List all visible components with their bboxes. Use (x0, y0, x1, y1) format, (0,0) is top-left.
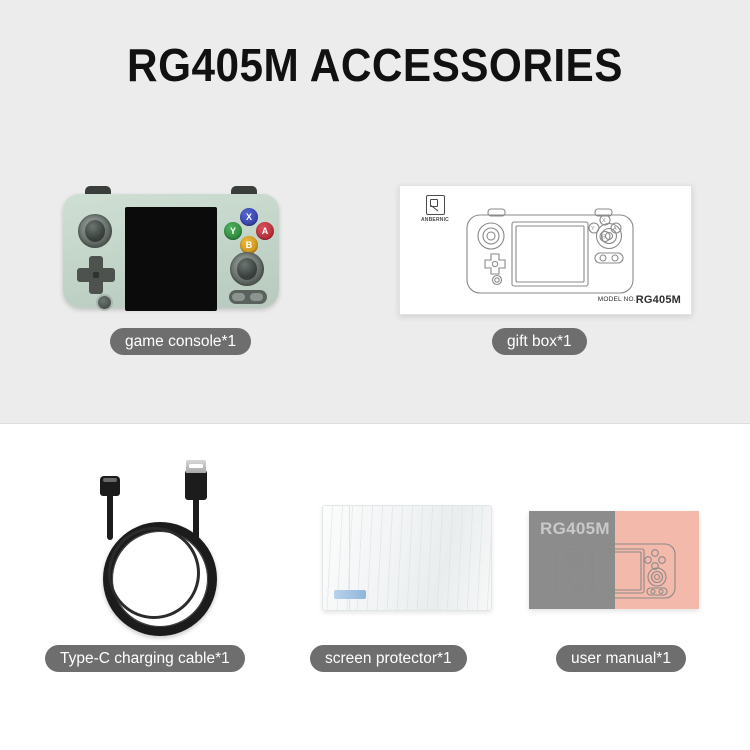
right-analog-stick-icon (230, 252, 264, 286)
label-gift-box: gift box*1 (492, 328, 587, 355)
console-body: X Y A B (63, 194, 279, 308)
cable-lead-right (193, 486, 199, 540)
anbernic-brand-name: ANBERNIC (412, 217, 458, 223)
page-title: RG405M ACCESSORIES (30, 38, 720, 92)
anbernic-logo: ANBERNIC (412, 195, 458, 223)
button-a: A (256, 222, 274, 240)
anbernic-mark-icon (426, 195, 445, 215)
user-manual-image: RG405M (529, 511, 699, 609)
model-number-label: MODEL NO. (598, 296, 636, 303)
section-divider (0, 423, 750, 424)
dpad-icon (77, 256, 115, 294)
game-console-image: X Y A B (63, 186, 279, 308)
gift-box-console-lineart: X Y A B (455, 208, 645, 300)
cable-coil-inner (108, 527, 200, 619)
left-analog-stick-icon (78, 214, 112, 248)
start-select-buttons-icon (229, 290, 267, 304)
label-type-c-charging-cable: Type-C charging cable*1 (45, 645, 245, 672)
label-screen-protector: screen protector*1 (310, 645, 467, 672)
protector-tab-label (334, 590, 366, 599)
svg-text:A: A (613, 226, 617, 232)
screen-protector-image (322, 505, 492, 611)
abxy-button-cluster: X Y A B (223, 208, 275, 258)
svg-text:Y: Y (591, 226, 595, 232)
svg-text:B: B (602, 235, 606, 241)
label-game-console: game console*1 (110, 328, 251, 355)
model-number: MODEL NO.RG405M (598, 290, 681, 308)
gift-box-image: ANBERNIC (399, 185, 692, 315)
charging-cable-image (75, 470, 250, 625)
manual-console-lineart (551, 541, 681, 603)
accessories-page: RG405M ACCESSORIES X Y A B (0, 0, 750, 750)
button-y: Y (224, 222, 242, 240)
svg-text:X: X (602, 218, 606, 224)
model-number-value: RG405M (636, 294, 681, 306)
console-screen (125, 207, 217, 311)
top-section: RG405M ACCESSORIES X Y A B (0, 0, 750, 424)
button-x: X (240, 208, 258, 226)
manual-cover-title: RG405M (540, 519, 610, 539)
cable-lead-left (107, 492, 113, 540)
label-user-manual: user manual*1 (556, 645, 686, 672)
function-button-icon (98, 296, 111, 309)
